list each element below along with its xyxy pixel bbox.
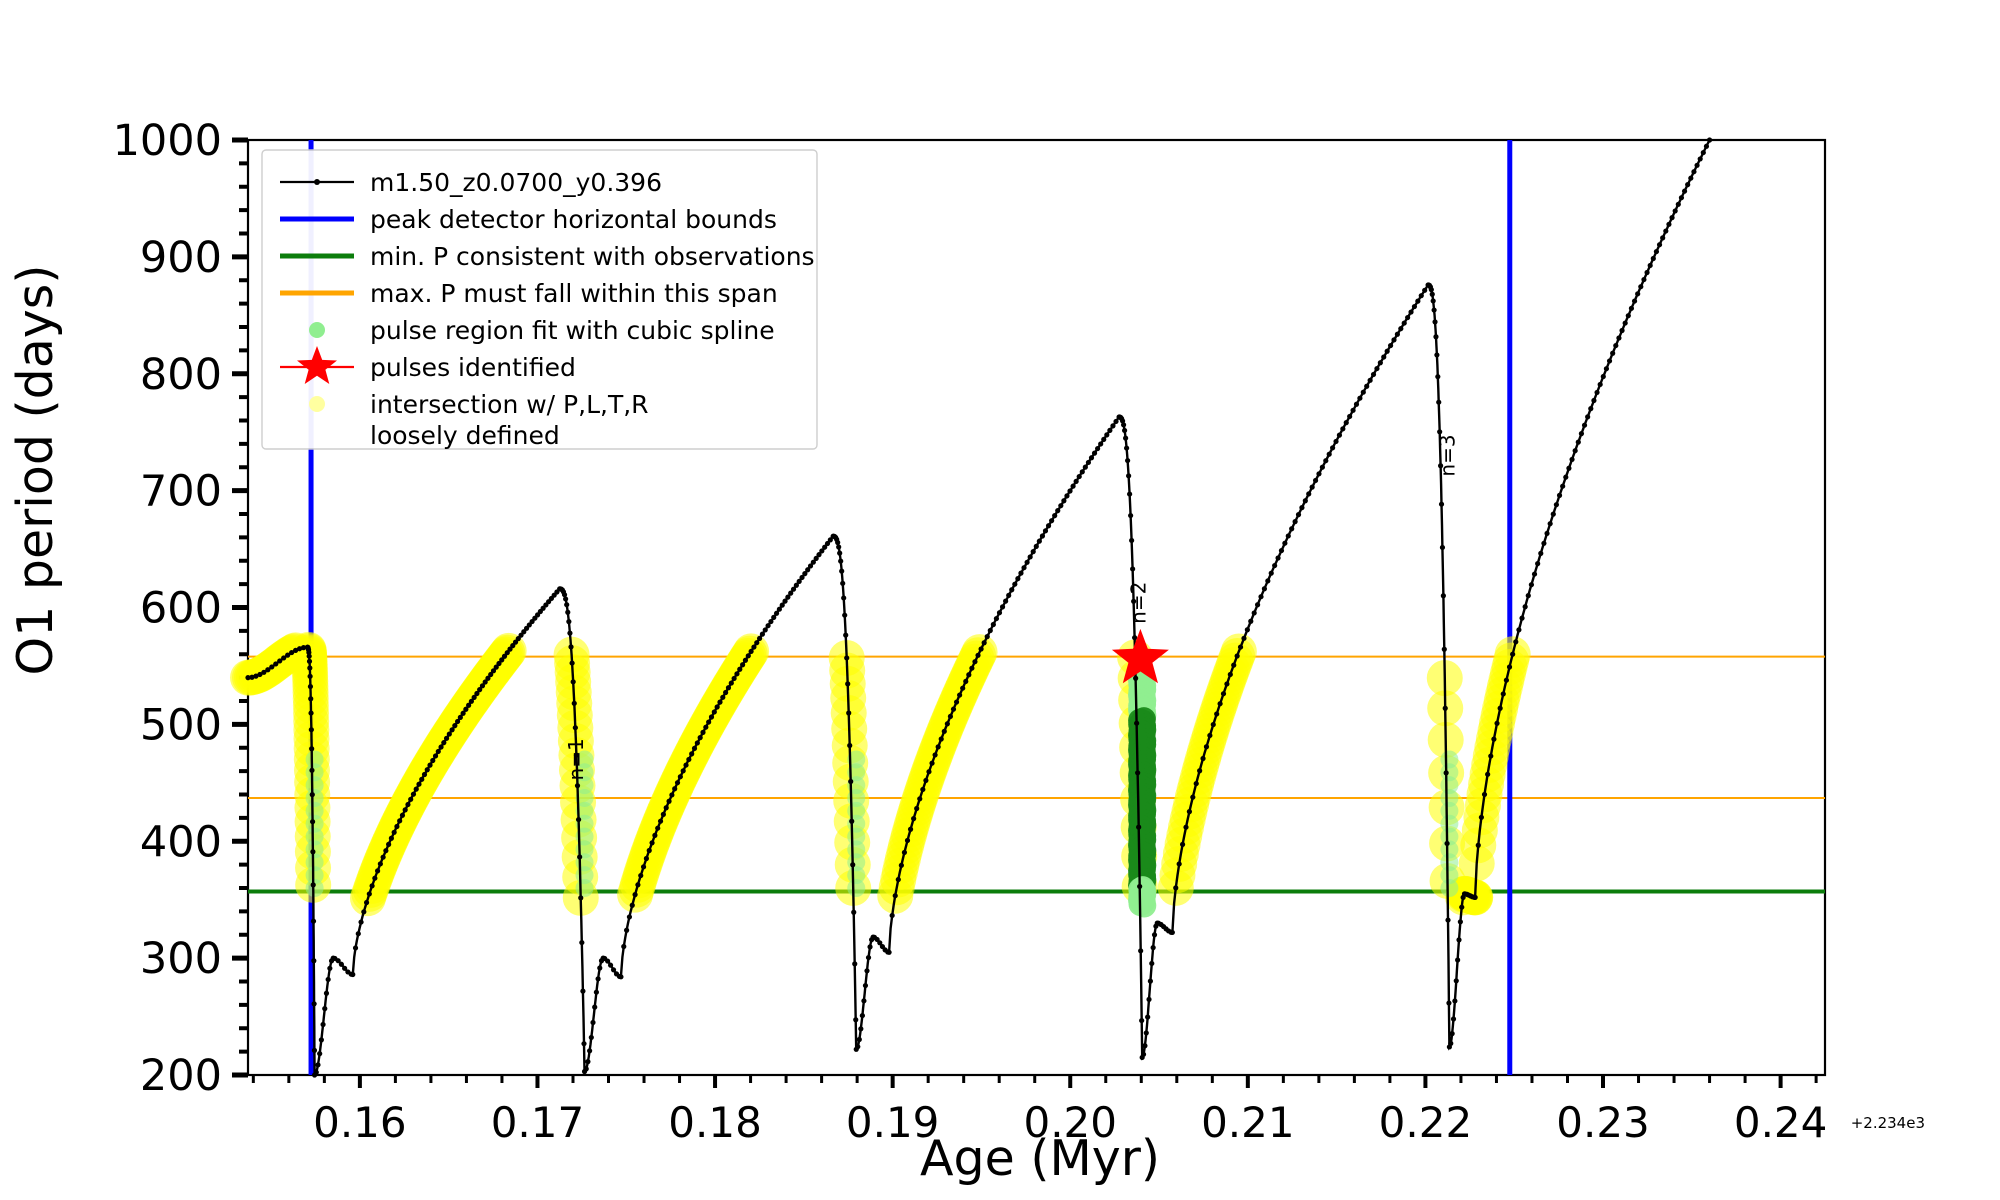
series-point-marker (734, 671, 739, 676)
series-point-marker (581, 1041, 586, 1046)
series-point-marker (1660, 235, 1665, 240)
series-point-marker (1629, 306, 1634, 311)
series-point-marker (666, 799, 671, 804)
series-point-marker (638, 873, 643, 878)
series-point-marker (1275, 555, 1280, 560)
series-point-marker (1000, 604, 1005, 609)
series-point-marker (1663, 228, 1668, 233)
series-point-marker (957, 692, 962, 697)
series-point-marker (327, 966, 332, 971)
series-point-marker (369, 883, 374, 888)
series-point-marker (1638, 284, 1643, 289)
series-point-marker (1432, 319, 1437, 324)
series-point-marker (845, 681, 850, 686)
series-point-marker (1501, 691, 1506, 696)
series-point-marker (1398, 326, 1403, 331)
series-point-marker (649, 840, 654, 845)
series-point-marker (899, 863, 904, 868)
series-point-marker (1435, 374, 1440, 379)
series-point-marker (1569, 457, 1574, 462)
series-point-marker (1121, 422, 1126, 427)
series-point-marker (1204, 744, 1209, 749)
series-point-marker (339, 962, 344, 967)
series-point-marker (1591, 398, 1596, 403)
series-point-marker (578, 895, 583, 900)
series-point-marker (350, 972, 355, 977)
series-point-marker (425, 767, 430, 772)
series-point-marker (1067, 488, 1072, 493)
series-point-marker (1151, 945, 1156, 950)
series-point-marker (1444, 770, 1449, 775)
series-point-marker (1679, 195, 1684, 200)
series-point-marker (1582, 423, 1587, 428)
series-point-marker (1262, 586, 1267, 591)
chart-svg: 0.160.170.180.190.200.210.220.230.242003… (0, 0, 2000, 1200)
series-point-marker (678, 774, 683, 779)
series-point-marker (1434, 352, 1439, 357)
series-point-marker (572, 701, 577, 706)
series-point-marker (1430, 292, 1435, 297)
series-point-marker (310, 819, 315, 824)
series-point-marker (1691, 169, 1696, 174)
series-point-marker (1306, 491, 1311, 496)
series-point-marker (963, 679, 968, 684)
series-point-marker (1012, 582, 1017, 587)
series-point-marker (644, 856, 649, 861)
series-point-marker (1138, 948, 1143, 953)
series-point-marker (1241, 636, 1246, 641)
series-point-marker (1347, 414, 1352, 419)
series-point-marker (1006, 593, 1011, 598)
series-point-marker (1135, 770, 1140, 775)
series-point-marker (1626, 313, 1631, 318)
series-point-marker (1279, 548, 1284, 553)
series-point-marker (1217, 701, 1222, 706)
series-point-marker (917, 796, 922, 801)
series-point-marker (847, 743, 852, 748)
series-point-marker (1021, 565, 1026, 570)
spline-fit-point (847, 879, 865, 897)
series-point-marker (1368, 378, 1373, 383)
series-point-marker (1024, 560, 1029, 565)
series-point-marker (1688, 176, 1693, 181)
series-point-marker (1551, 512, 1556, 517)
series-point-marker (717, 700, 722, 705)
spline-fit-point (1440, 879, 1458, 897)
series-point-marker (852, 961, 857, 966)
series-point-marker (1272, 563, 1277, 568)
series-point-marker (1385, 349, 1390, 354)
series-point-marker (743, 658, 748, 663)
series-point-marker (372, 876, 377, 881)
series-point-marker (1080, 469, 1085, 474)
series-point-marker (1476, 843, 1481, 848)
series-point-marker (1313, 478, 1318, 483)
series-point-marker (932, 752, 937, 757)
y-tick-label: 300 (140, 934, 222, 984)
series-point-marker (397, 818, 402, 823)
x-tick-label: 0.24 (1734, 1098, 1828, 1147)
y-tick-label: 800 (140, 350, 222, 400)
series-point-marker (608, 963, 613, 968)
series-point-marker (1666, 222, 1671, 227)
series-point-marker (1441, 593, 1446, 598)
series-point-marker (1444, 841, 1449, 846)
series-point-marker (381, 855, 386, 860)
series-point-marker (1299, 505, 1304, 510)
series-point-marker (760, 632, 765, 637)
series-point-marker (908, 827, 913, 832)
series-point-marker (1173, 885, 1178, 890)
series-point-marker (1122, 428, 1127, 433)
series-point-marker (942, 729, 947, 734)
series-point-marker (1563, 475, 1568, 480)
series-point-marker (988, 628, 993, 633)
series-point-marker (1148, 979, 1153, 984)
series-point-marker (1344, 420, 1349, 425)
series-point-marker (1408, 309, 1413, 314)
series-point-marker (1110, 423, 1115, 428)
series-point-marker (911, 816, 916, 821)
series-point-marker (1126, 473, 1131, 478)
series-point-marker (1651, 256, 1656, 261)
series-point-marker (1601, 374, 1606, 379)
series-point-marker (1214, 711, 1219, 716)
series-point-marker (378, 861, 383, 866)
series-point-marker (1532, 571, 1537, 576)
series-point-marker (860, 1013, 865, 1018)
series-point-marker (839, 569, 844, 574)
series-point-marker (1104, 432, 1109, 437)
legend-label: peak detector horizontal bounds (370, 205, 777, 234)
series-point-marker (1136, 825, 1141, 830)
series-point-marker (1129, 538, 1134, 543)
series-point-marker (960, 686, 965, 691)
series-point-marker (570, 660, 575, 665)
series-point-marker (969, 666, 974, 671)
series-point-marker (1654, 249, 1659, 254)
series-point-marker (1456, 937, 1461, 942)
series-point-marker (1498, 706, 1503, 711)
series-point-marker (1139, 1018, 1144, 1023)
series-point-marker (1523, 604, 1528, 609)
series-point-marker (966, 672, 971, 677)
legend-label: pulse region fit with cubic spline (370, 316, 775, 345)
series-point-marker (1455, 957, 1460, 962)
series-point-marker (754, 640, 759, 645)
series-point-marker (849, 819, 854, 824)
series-point-marker (1632, 298, 1637, 303)
series-point-marker (630, 903, 635, 908)
series-point-marker (1049, 518, 1054, 523)
x-tick-label: 0.22 (1379, 1098, 1473, 1147)
legend-dot-swatch (309, 322, 325, 338)
series-point-marker (590, 1020, 595, 1025)
series-point-marker (669, 792, 674, 797)
series-point-marker (1031, 549, 1036, 554)
series-point-marker (1124, 445, 1129, 450)
series-point-marker (1437, 429, 1442, 434)
pulse-index-annotation: n=1 (564, 738, 588, 780)
series-point-marker (317, 1051, 322, 1056)
series-point-marker (1231, 663, 1236, 668)
series-point-marker (589, 1035, 594, 1040)
series-point-marker (1361, 390, 1366, 395)
chart-legend[interactable]: m1.50_z0.0700_y0.396peak detector horizo… (262, 150, 817, 450)
series-point-marker (309, 727, 314, 732)
series-point-marker (1180, 842, 1185, 847)
series-point-marker (444, 736, 449, 741)
series-point-marker (1579, 431, 1584, 436)
series-point-marker (575, 783, 580, 788)
series-point-marker (1566, 466, 1571, 471)
series-point-marker (1061, 498, 1066, 503)
series-point-marker (1123, 436, 1128, 441)
series-point-marker (972, 659, 977, 664)
series-point-marker (1526, 593, 1531, 598)
x-tick-label: 0.23 (1556, 1098, 1650, 1147)
series-point-marker (392, 830, 397, 835)
series-point-marker (1682, 189, 1687, 194)
series-point-marker (1604, 366, 1609, 371)
spline-fit-point (306, 879, 324, 897)
series-point-marker (709, 714, 714, 719)
series-point-marker (1170, 930, 1175, 935)
series-point-marker (1405, 315, 1410, 320)
series-point-marker (1333, 439, 1338, 444)
series-point-marker (1052, 513, 1057, 518)
series-point-marker (1635, 291, 1640, 296)
series-point-marker (309, 746, 314, 751)
series-point-marker (1144, 1030, 1149, 1035)
series-point-marker (1576, 440, 1581, 445)
series-point-marker (1535, 561, 1540, 566)
series-point-marker (985, 634, 990, 639)
series-point-marker (408, 797, 413, 802)
y-tick-label: 600 (140, 584, 222, 634)
series-point-marker (419, 777, 424, 782)
series-point-marker (579, 940, 584, 945)
series-point-marker (308, 684, 313, 689)
series-point-marker (1043, 528, 1048, 533)
series-point-marker (1610, 351, 1615, 356)
series-point-marker (1378, 360, 1383, 365)
series-point-marker (1585, 414, 1590, 419)
series-point-marker (1077, 474, 1082, 479)
series-point-marker (951, 707, 956, 712)
series-point-marker (1395, 332, 1400, 337)
series-point-marker (1142, 1043, 1147, 1048)
series-point-marker (1330, 445, 1335, 450)
legend-label: max. P must fall within this span (370, 279, 778, 308)
series-point-marker (1446, 1000, 1451, 1005)
series-point-marker (1258, 594, 1263, 599)
series-point-marker (311, 882, 316, 887)
series-point-marker (647, 848, 652, 853)
series-point-marker (1320, 465, 1325, 470)
series-point-marker (1350, 408, 1355, 413)
x-tick-label: 0.21 (1201, 1098, 1295, 1147)
series-point-marker (1095, 446, 1100, 451)
series-point-marker (1676, 202, 1681, 207)
series-point-marker (1450, 1031, 1455, 1036)
series-point-marker (1519, 616, 1524, 621)
legend-item[interactable]: pulse region fit with cubic spline (309, 316, 775, 345)
series-point-marker (1252, 610, 1257, 615)
series-point-marker (308, 696, 313, 701)
series-point-marker (1433, 334, 1438, 339)
series-point-marker (573, 725, 578, 730)
series-point-marker (994, 616, 999, 621)
x-tick-label: 0.18 (668, 1098, 762, 1147)
series-point-marker (1293, 519, 1298, 524)
series-point-marker (1374, 366, 1379, 371)
series-point-marker (1086, 460, 1091, 465)
series-point-marker (307, 659, 312, 664)
series-point-marker (1089, 455, 1094, 460)
series-point-marker (1296, 512, 1301, 517)
series-point-marker (403, 807, 408, 812)
series-point-marker (1238, 644, 1243, 649)
series-point-marker (945, 721, 950, 726)
series-point-marker (1125, 458, 1130, 463)
y-tick-label: 400 (140, 817, 222, 867)
series-point-marker (1548, 521, 1553, 526)
series-point-marker (1554, 502, 1559, 507)
series-point-marker (314, 1070, 319, 1075)
series-point-marker (1451, 1016, 1456, 1021)
series-point-marker (740, 662, 745, 667)
series-point-marker (843, 633, 848, 638)
series-point-marker (441, 740, 446, 745)
series-point-marker (844, 655, 849, 660)
series-point-marker (926, 769, 931, 774)
series-point-marker (571, 679, 576, 684)
series-point-marker (1454, 978, 1459, 983)
series-point-marker (312, 1048, 317, 1053)
series-point-marker (1207, 733, 1212, 738)
series-point-marker (1479, 815, 1484, 820)
series-point-marker (576, 817, 581, 822)
series-point-marker (367, 891, 372, 896)
series-point-marker (1613, 343, 1618, 348)
x-tick-label: 0.16 (313, 1098, 407, 1147)
series-point-marker (939, 736, 944, 741)
series-point-marker (1644, 270, 1649, 275)
series-point-marker (1055, 508, 1060, 513)
series-point-marker (1134, 721, 1139, 726)
series-point-marker (1445, 917, 1450, 922)
series-point-marker (361, 909, 366, 914)
figure-canvas: 0.160.170.180.190.200.210.220.230.242003… (0, 0, 2000, 1200)
series-point-marker (394, 824, 399, 829)
series-point-marker (1130, 566, 1135, 571)
series-point-marker (732, 676, 737, 681)
series-point-marker (1327, 452, 1332, 457)
series-point-marker (587, 1048, 592, 1053)
series-point-marker (848, 779, 853, 784)
series-point-marker (978, 646, 983, 651)
legend-label: min. P consistent with observations (370, 242, 815, 271)
series-point-marker (1701, 150, 1706, 155)
series-point-marker (864, 968, 869, 973)
series-point-marker (1443, 706, 1448, 711)
series-point-marker (850, 862, 855, 867)
legend-dot-swatch (309, 396, 325, 412)
series-point-marker (1598, 382, 1603, 387)
series-point-marker (1588, 406, 1593, 411)
series-point-marker (846, 710, 851, 715)
series-point-marker (1183, 825, 1188, 830)
series-point-marker (835, 540, 840, 545)
series-point-marker (1685, 182, 1690, 187)
series-point-marker (1439, 502, 1444, 507)
series-point-marker (1098, 441, 1103, 446)
series-point-marker (422, 772, 427, 777)
series-point-marker (307, 654, 312, 659)
series-point-marker (896, 877, 901, 882)
series-point-marker (358, 919, 363, 924)
series-point-marker (1200, 756, 1205, 761)
series-point-marker (1289, 526, 1294, 531)
series-point-marker (594, 990, 599, 995)
series-point-marker (307, 665, 312, 670)
series-point-marker (1459, 905, 1464, 910)
y-tick-label: 1000 (113, 116, 222, 166)
series-point-marker (1452, 998, 1457, 1003)
series-point-marker (592, 1005, 597, 1010)
series-point-marker (375, 868, 380, 873)
series-point-marker (1070, 484, 1075, 489)
series-point-marker (1018, 571, 1023, 576)
series-point-marker (405, 802, 410, 807)
series-point-marker (1224, 681, 1229, 686)
series-point-marker (310, 849, 315, 854)
series-point-marker (929, 761, 934, 766)
series-point-marker (867, 944, 872, 949)
series-point-marker (1482, 792, 1487, 797)
series-point-marker (1003, 599, 1008, 604)
series-point-marker (675, 780, 680, 785)
series-point-marker (400, 813, 405, 818)
series-point-marker (315, 1062, 320, 1067)
series-point-marker (1504, 678, 1509, 683)
series-point-marker (1113, 419, 1118, 424)
y-tick-label: 900 (140, 233, 222, 283)
series-point-marker (1669, 215, 1674, 220)
series-point-marker (1037, 539, 1042, 544)
series-point-marker (1058, 503, 1063, 508)
series-point-marker (564, 602, 569, 607)
series-point-marker (1436, 400, 1441, 405)
series-point-marker (1141, 1052, 1146, 1057)
series-point-marker (689, 751, 694, 756)
series-point-marker (1074, 479, 1079, 484)
series-point-marker (920, 787, 925, 792)
series-point-marker (1616, 335, 1621, 340)
series-point-marker (624, 928, 629, 933)
series-point-marker (703, 725, 708, 730)
series-point-marker (1491, 737, 1496, 742)
series-point-marker (1235, 653, 1240, 658)
series-point-marker (997, 610, 1002, 615)
series-point-marker (1573, 448, 1578, 453)
series-point-marker (1507, 664, 1512, 669)
series-point-marker (635, 882, 640, 887)
series-point-marker (386, 842, 391, 847)
series-point-marker (698, 735, 703, 740)
series-point-marker (618, 974, 623, 979)
